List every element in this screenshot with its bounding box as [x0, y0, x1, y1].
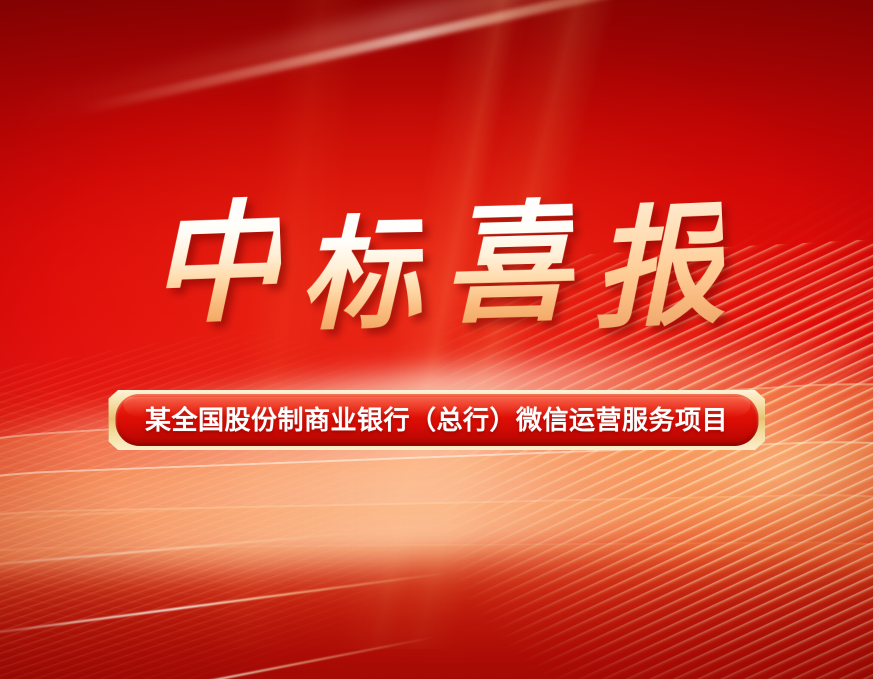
headline-char-1: 中: [147, 196, 284, 333]
subtitle-banner-gold-frame: 某全国股份制商业银行（总行）微信运营服务项目: [108, 390, 765, 450]
headline-char-2: 标: [299, 212, 425, 338]
subtitle-banner-red-pill: 某全国股份制商业银行（总行）微信运营服务项目: [115, 394, 758, 446]
subtitle-banner: 某全国股份制商业银行（总行）微信运营服务项目: [108, 390, 765, 450]
headline-title: 中标喜报: [0, 196, 873, 328]
winning-bid-poster: 中标喜报 某全国股份制商业银行（总行）微信运营服务项目: [0, 0, 873, 679]
poster-content: 中标喜报 某全国股份制商业银行（总行）微信运营服务项目: [0, 0, 873, 679]
headline-char-4: 报: [589, 199, 727, 337]
subtitle-banner-text: 某全国股份制商业银行（总行）微信运营服务项目: [145, 400, 728, 437]
headline-char-3: 喜: [440, 196, 575, 331]
